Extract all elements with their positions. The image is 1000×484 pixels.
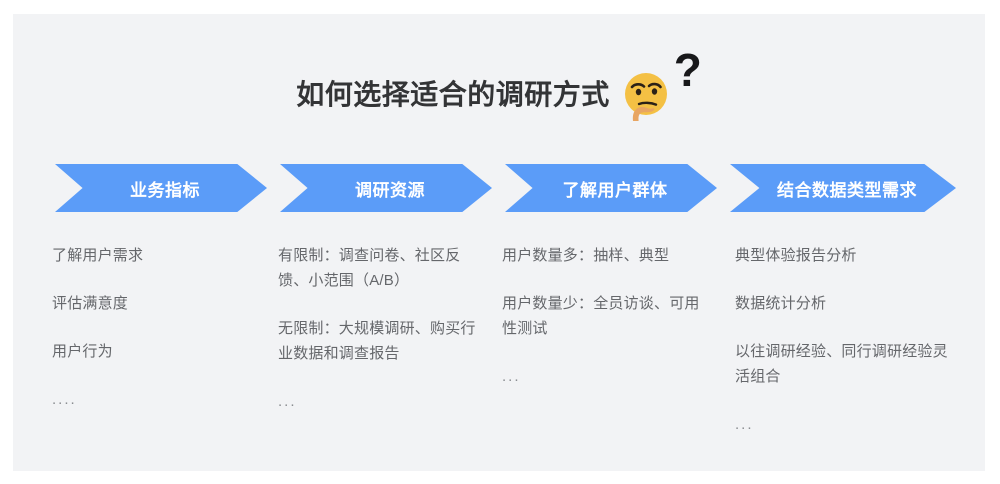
content-column-1: 了解用户需求 评估满意度 用户行为 ....	[52, 243, 267, 412]
column-3-ellipsis: ...	[502, 364, 712, 389]
column-1-item-2: 评估满意度	[52, 291, 267, 316]
banner-step-4-label: 结合数据类型需求	[769, 176, 917, 201]
column-2-ellipsis: ...	[278, 389, 486, 414]
content-column-3: 用户数量多：抽样、典型 用户数量少：全员访谈、可用性测试 ...	[502, 243, 712, 389]
banner-step-1-label: 业务指标	[122, 176, 200, 201]
content-columns: 了解用户需求 评估满意度 用户行为 .... 有限制：调查问卷、社区反馈、小范围…	[52, 243, 985, 453]
page-title: 如何选择适合的调研方式	[296, 81, 610, 109]
thinking-face-emoji	[620, 69, 672, 121]
column-4-ellipsis: ...	[735, 412, 955, 437]
title-row: 如何选择适合的调研方式 ?	[13, 62, 985, 128]
process-banner-row: 业务指标 调研资源 了解用户群体 结合数据类型需求	[55, 164, 985, 212]
slide-canvas: 如何选择适合的调研方式 ? 业务指标 调研资源 了解用户群体 结合数据类型需	[13, 14, 985, 471]
banner-step-1[interactable]: 业务指标	[55, 164, 267, 212]
column-3-item-2: 用户数量少：全员访谈、可用性测试	[502, 291, 712, 341]
banner-step-2[interactable]: 调研资源	[280, 164, 492, 212]
column-2-item-1: 有限制：调查问卷、社区反馈、小范围（A/B）	[278, 243, 486, 293]
banner-step-3-label: 了解用户群体	[555, 176, 668, 201]
banner-step-2-label: 调研资源	[347, 176, 425, 201]
column-1-item-1: 了解用户需求	[52, 243, 267, 268]
column-4-item-2: 数据统计分析	[735, 291, 955, 316]
column-2-item-2: 无限制：大规模调研、购买行业数据和调查报告	[278, 316, 486, 366]
banner-step-4[interactable]: 结合数据类型需求	[730, 164, 956, 212]
column-4-item-3: 以往调研经验、同行调研经验灵活组合	[735, 339, 955, 389]
column-1-ellipsis: ....	[52, 387, 267, 412]
content-column-4: 典型体验报告分析 数据统计分析 以往调研经验、同行调研经验灵活组合 ...	[735, 243, 955, 437]
question-mark-glyph: ?	[674, 47, 702, 93]
column-1-item-3: 用户行为	[52, 339, 267, 364]
column-3-item-1: 用户数量多：抽样、典型	[502, 243, 712, 268]
banner-step-3[interactable]: 了解用户群体	[505, 164, 717, 212]
content-column-2: 有限制：调查问卷、社区反馈、小范围（A/B） 无限制：大规模调研、购买行业数据和…	[278, 243, 486, 414]
column-4-item-1: 典型体验报告分析	[735, 243, 955, 268]
